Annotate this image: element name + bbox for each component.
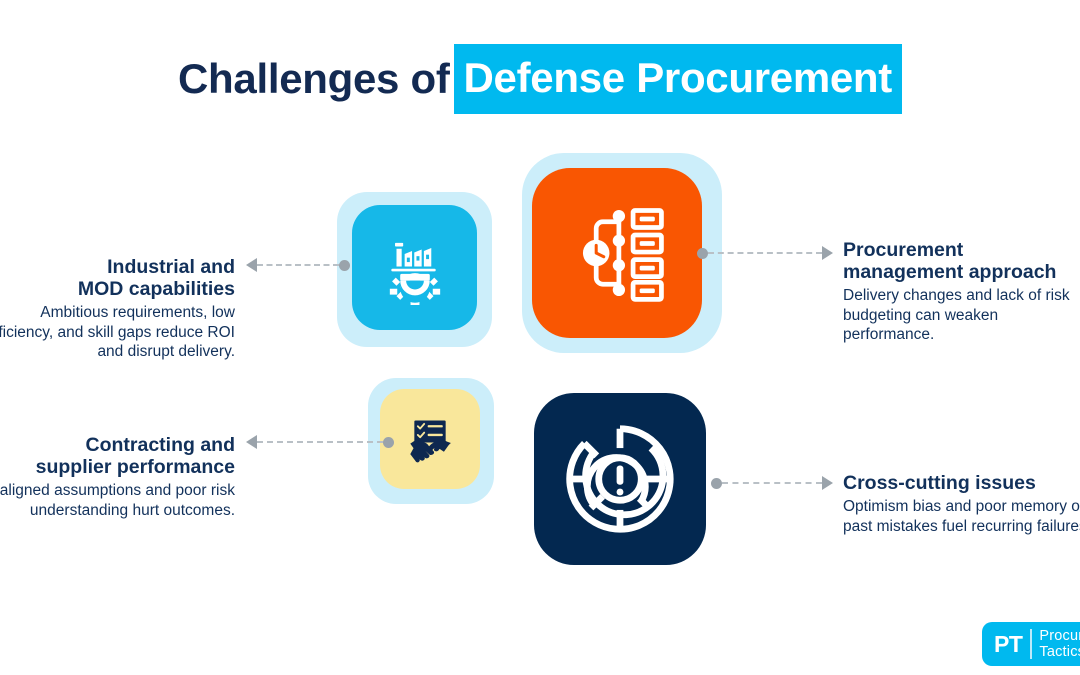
body-procurement-mgmt: Delivery changes and lack of risk budget… (843, 286, 1080, 345)
icon-card-industrial[interactable] (352, 205, 477, 330)
body-contracting: Misaligned assumptions and poor risk und… (0, 481, 235, 520)
connector-dot (383, 437, 394, 448)
heading-line-2: management approach (843, 261, 1056, 283)
text-block-cross-cutting: Cross-cutting issues Optimism bias and p… (843, 472, 1080, 536)
connector-industrial (246, 258, 350, 272)
connector-dot (711, 478, 722, 489)
connector-contracting (246, 435, 394, 449)
heading-line-2: MOD capabilities (78, 278, 235, 300)
connector-dot (339, 260, 350, 271)
text-block-procurement-mgmt: Procurement management approach Delivery… (843, 239, 1080, 345)
connector-procurement-mgmt (697, 246, 833, 260)
heading-line-1: Industrial and (107, 256, 235, 278)
heading-cross-cutting: Cross-cutting issues (843, 472, 1080, 494)
connector-dash (257, 264, 339, 266)
infographic-canvas: Challenges of Defense Procurement (0, 0, 1080, 675)
connector-dash (257, 441, 383, 443)
page-title: Challenges of Defense Procurement (0, 44, 1080, 114)
heading-procurement-mgmt: Procurement management approach (843, 239, 1080, 283)
text-block-contracting: Contracting and supplier performance Mis… (0, 434, 235, 520)
body-industrial: Ambitious requirements, low efficiency, … (0, 303, 235, 362)
heading-line-1: Contracting and (86, 434, 236, 456)
arrow-right-icon (822, 476, 833, 490)
maze-alert-icon (562, 421, 678, 537)
connector-dash (722, 482, 822, 484)
title-plain-text: Challenges of (178, 50, 453, 108)
logo-procurement-tactics[interactable]: PT Procurement Tactics (982, 622, 1080, 666)
arrow-left-icon (246, 435, 257, 449)
logo-mark: PT (994, 633, 1022, 656)
logo-word-line-2: Tactics (1039, 644, 1080, 660)
logo-wordmark: Procurement Tactics (1039, 628, 1080, 660)
handshake-contract-icon (401, 410, 459, 468)
heading-industrial: Industrial and MOD capabilities (0, 256, 235, 300)
icon-card-procurement-mgmt[interactable] (532, 168, 702, 338)
title-highlight-text: Defense Procurement (454, 44, 902, 114)
arrow-left-icon (246, 258, 257, 272)
icon-card-contracting[interactable] (380, 389, 480, 489)
timeline-clock-tasks-icon (565, 201, 669, 305)
connector-cross-cutting (711, 476, 833, 490)
text-block-industrial: Industrial and MOD capabilities Ambitiou… (0, 256, 235, 362)
arrow-right-icon (822, 246, 833, 260)
heading-line-1: Cross-cutting issues (843, 472, 1036, 494)
connector-dot (697, 248, 708, 259)
connector-dash (708, 252, 822, 254)
logo-divider (1030, 629, 1032, 659)
heading-contracting: Contracting and supplier performance (0, 434, 235, 478)
heading-line-1: Procurement (843, 239, 963, 261)
logo-word-line-1: Procurement (1039, 628, 1080, 644)
factory-gear-icon (378, 231, 452, 305)
body-cross-cutting: Optimism bias and poor memory of past mi… (843, 497, 1080, 536)
heading-line-2: supplier performance (36, 456, 235, 478)
icon-card-cross-cutting[interactable] (534, 393, 706, 565)
